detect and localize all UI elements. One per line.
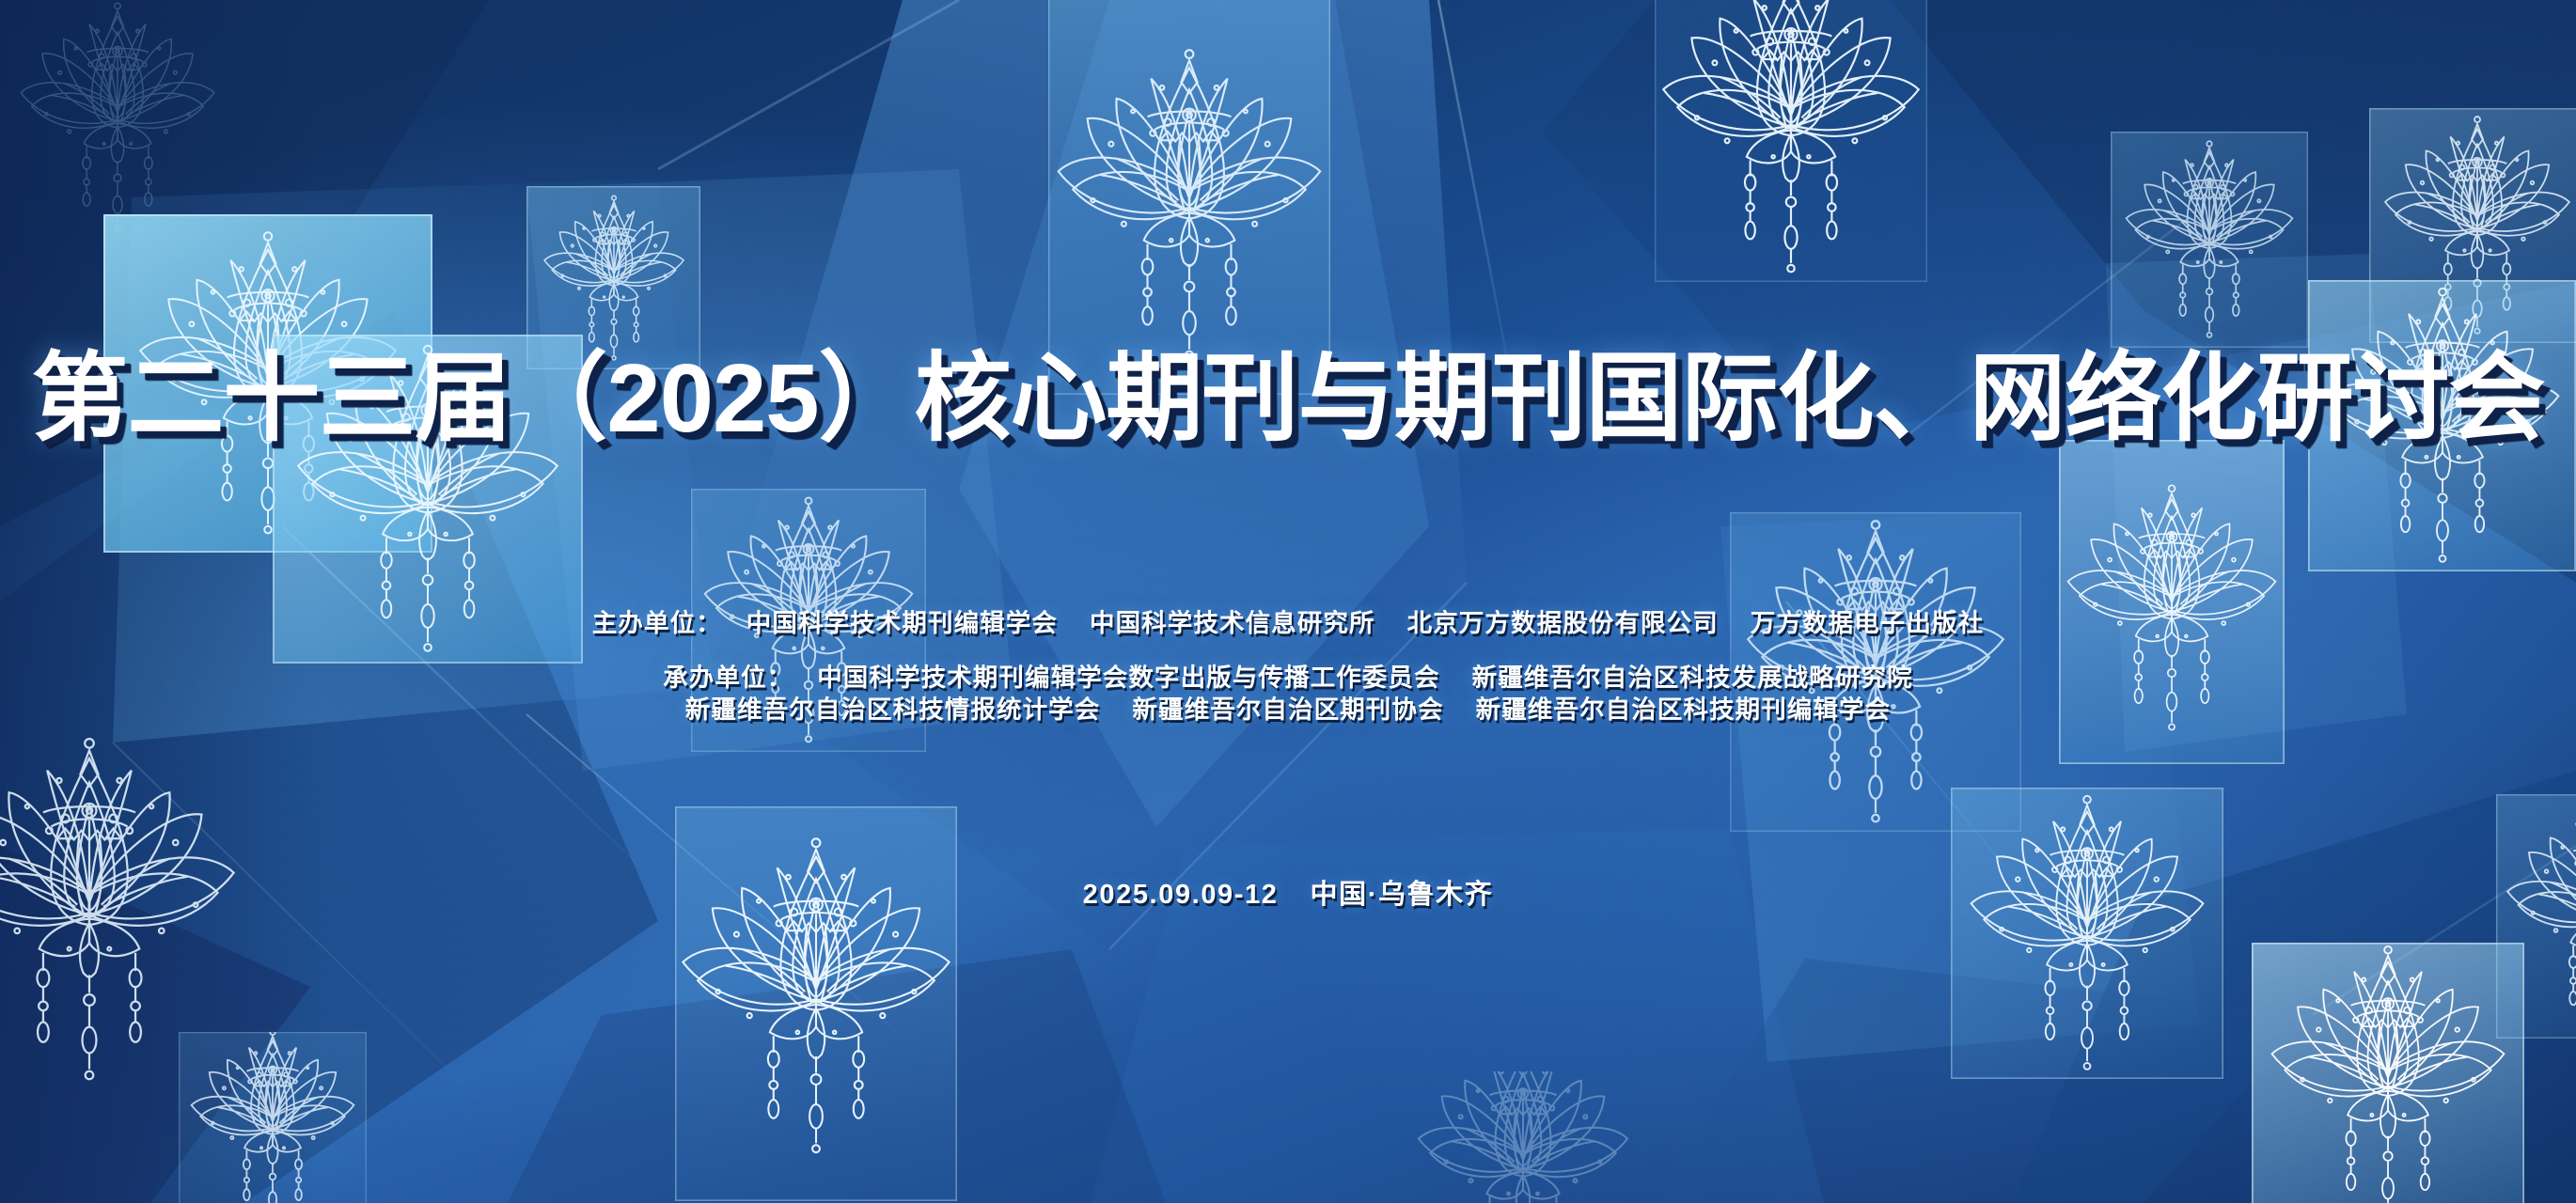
host-label: 主办单位： xyxy=(592,609,722,637)
host-line: 主办单位：中国科学技术期刊编辑学会中国科学技术信息研究所北京万方数据股份有限公司… xyxy=(0,611,2576,636)
lotus-tile xyxy=(1048,0,1330,395)
lotus-mandala-icon xyxy=(1404,1071,1643,1203)
coorg-item-2: 新疆维吾尔自治区科技情报统计学会 xyxy=(685,695,1101,724)
lotus-mandala-icon xyxy=(181,1032,365,1203)
coorganizer-line-2: 新疆维吾尔自治区科技情报统计学会新疆维吾尔自治区期刊协会新疆维吾尔自治区科技期刊… xyxy=(0,697,2576,723)
event-location: 中国·乌鲁木齐 xyxy=(1311,880,1494,910)
lotus-tile xyxy=(2111,132,2308,348)
event-date: 2025.09.09-12 xyxy=(1083,880,1279,910)
lotus-mandala-icon xyxy=(533,194,695,363)
coorganizer-line-1: 承办单位：中国科学技术期刊编辑学会数字出版与传播工作委员会新疆维吾尔自治区科技发… xyxy=(0,665,2576,691)
lotus-tile xyxy=(0,0,235,235)
lotus-mandala-icon xyxy=(1655,0,1927,277)
lotus-tile xyxy=(675,806,957,1201)
lotus-mandala-icon xyxy=(678,808,955,1184)
host-item-0: 中国科学技术期刊编辑学会 xyxy=(746,609,1058,637)
lotus-mandala-icon xyxy=(2256,943,2520,1203)
lotus-tile xyxy=(1655,0,1927,282)
lotus-tile xyxy=(526,186,700,369)
poster-title: 第二十三届（2025）核心期刊与期刊国际化、网络化研讨会 xyxy=(31,346,2544,450)
organizers-block: 主办单位：中国科学技术期刊编辑学会中国科学技术信息研究所北京万方数据股份有限公司… xyxy=(0,611,2576,723)
lotus-mandala-icon xyxy=(5,0,230,235)
lotus-mandala-icon xyxy=(1053,17,1326,393)
coorg-item-3: 新疆维吾尔自治区期刊协会 xyxy=(1132,695,1443,724)
lotus-mandala-icon xyxy=(1956,792,2219,1074)
host-item-2: 北京万方数据股份有限公司 xyxy=(1407,609,1719,637)
poster-backdrop: 第二十三届（2025）核心期刊与期刊国际化、网络化研讨会 主办单位：中国科学技术… xyxy=(0,0,2576,1203)
lotus-mandala-icon xyxy=(2115,139,2303,341)
coorganizer-label: 承办单位： xyxy=(663,664,793,692)
lotus-tile xyxy=(179,1032,367,1203)
background-polygons xyxy=(0,0,2576,1203)
lotus-mandala-icon xyxy=(2374,114,2576,337)
host-item-1: 中国科学技术信息研究所 xyxy=(1090,609,1375,637)
coorg-item-0: 中国科学技术期刊编辑学会数字出版与传播工作委员会 xyxy=(817,664,1439,692)
lotus-tile xyxy=(1951,788,2223,1079)
lotus-tile xyxy=(2496,794,2576,1039)
lotus-tile xyxy=(1401,1071,1645,1203)
lotus-mandala-icon xyxy=(2499,799,2576,1034)
event-datetime-location: 2025.09.09-12中国·乌鲁木齐 xyxy=(0,872,2576,912)
coorg-item-4: 新疆维吾尔自治区科技期刊编辑学会 xyxy=(1476,695,1892,724)
coorg-item-1: 新疆维吾尔自治区科技发展战略研究院 xyxy=(1472,664,1913,692)
lotus-tile xyxy=(2369,108,2576,343)
host-item-3: 万方数据电子出版社 xyxy=(1751,609,1984,637)
title-block: 第二十三届（2025）核心期刊与期刊国际化、网络化研讨会 xyxy=(0,346,2576,450)
lotus-tile xyxy=(2252,943,2524,1203)
